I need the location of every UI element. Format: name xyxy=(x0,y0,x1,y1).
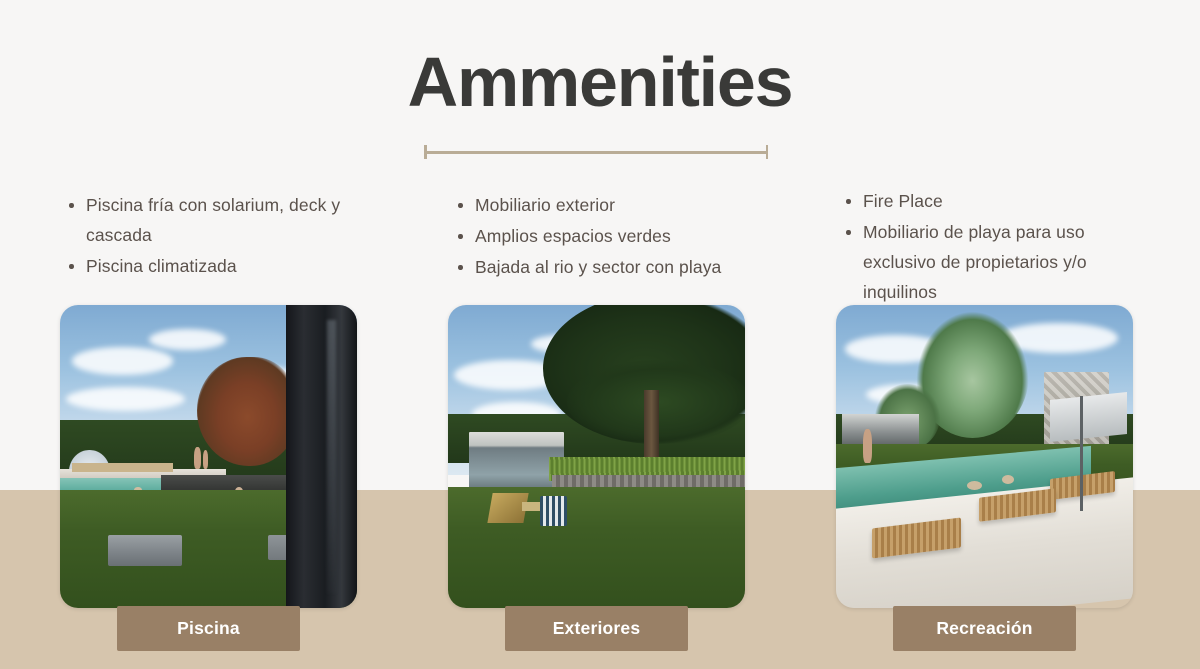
divider-rule xyxy=(424,151,768,154)
list-item: Amplios espacios verdes xyxy=(455,221,785,251)
amenities-column-1: Piscina fría con solarium, deck y cascad… xyxy=(66,190,396,282)
slide-canvas: Ammenities Piscina fría con solarium, de… xyxy=(0,0,1200,669)
divider-cap-right-icon xyxy=(766,145,769,159)
caption-exteriores: Exteriores xyxy=(505,606,688,651)
dark-timber-wall xyxy=(286,305,357,608)
glass-canopy xyxy=(1050,392,1127,443)
scene-piscina xyxy=(60,305,357,608)
umbrella-pole xyxy=(1080,396,1084,511)
lounge-chairs xyxy=(72,463,173,472)
list-item: Mobiliario de playa para uso exclusivo d… xyxy=(843,217,1143,307)
cloud xyxy=(66,387,185,411)
bullet-list-3: Fire Place Mobiliario de playa para uso … xyxy=(843,186,1143,307)
list-item: Fire Place xyxy=(843,186,1143,216)
scene-exteriores xyxy=(448,305,745,608)
swimmer xyxy=(1002,475,1014,484)
striped-bag xyxy=(540,496,567,526)
bullet-list-2: Mobiliario exterior Amplios espacios ver… xyxy=(455,190,785,282)
cloud xyxy=(72,347,173,374)
bullet-list-1: Piscina fría con solarium, deck y cascad… xyxy=(66,190,396,281)
person xyxy=(203,450,209,468)
person xyxy=(863,429,872,462)
title-divider xyxy=(424,145,768,159)
person xyxy=(194,447,201,468)
page-title: Ammenities xyxy=(0,46,1200,120)
caption-piscina: Piscina xyxy=(117,606,300,651)
list-item: Piscina climatizada xyxy=(66,251,396,281)
amenity-image-recreacion xyxy=(836,305,1133,608)
concrete-bench xyxy=(108,535,182,565)
list-item: Mobiliario exterior xyxy=(455,190,785,220)
amenity-image-exteriores xyxy=(448,305,745,608)
amenities-column-2: Mobiliario exterior Amplios espacios ver… xyxy=(455,190,785,283)
scene-recreacion xyxy=(836,305,1133,608)
list-item: Piscina fría con solarium, deck y cascad… xyxy=(66,190,396,250)
pergola xyxy=(842,414,919,444)
amenity-image-piscina xyxy=(60,305,357,608)
wall-highlight xyxy=(327,320,336,593)
amenities-column-3: Fire Place Mobiliario de playa para uso … xyxy=(843,186,1143,308)
autumn-tree xyxy=(197,357,298,466)
caption-recreacion: Recreación xyxy=(893,606,1076,651)
swimmer xyxy=(967,481,982,490)
list-item: Bajada al rio y sector con playa xyxy=(455,252,785,282)
